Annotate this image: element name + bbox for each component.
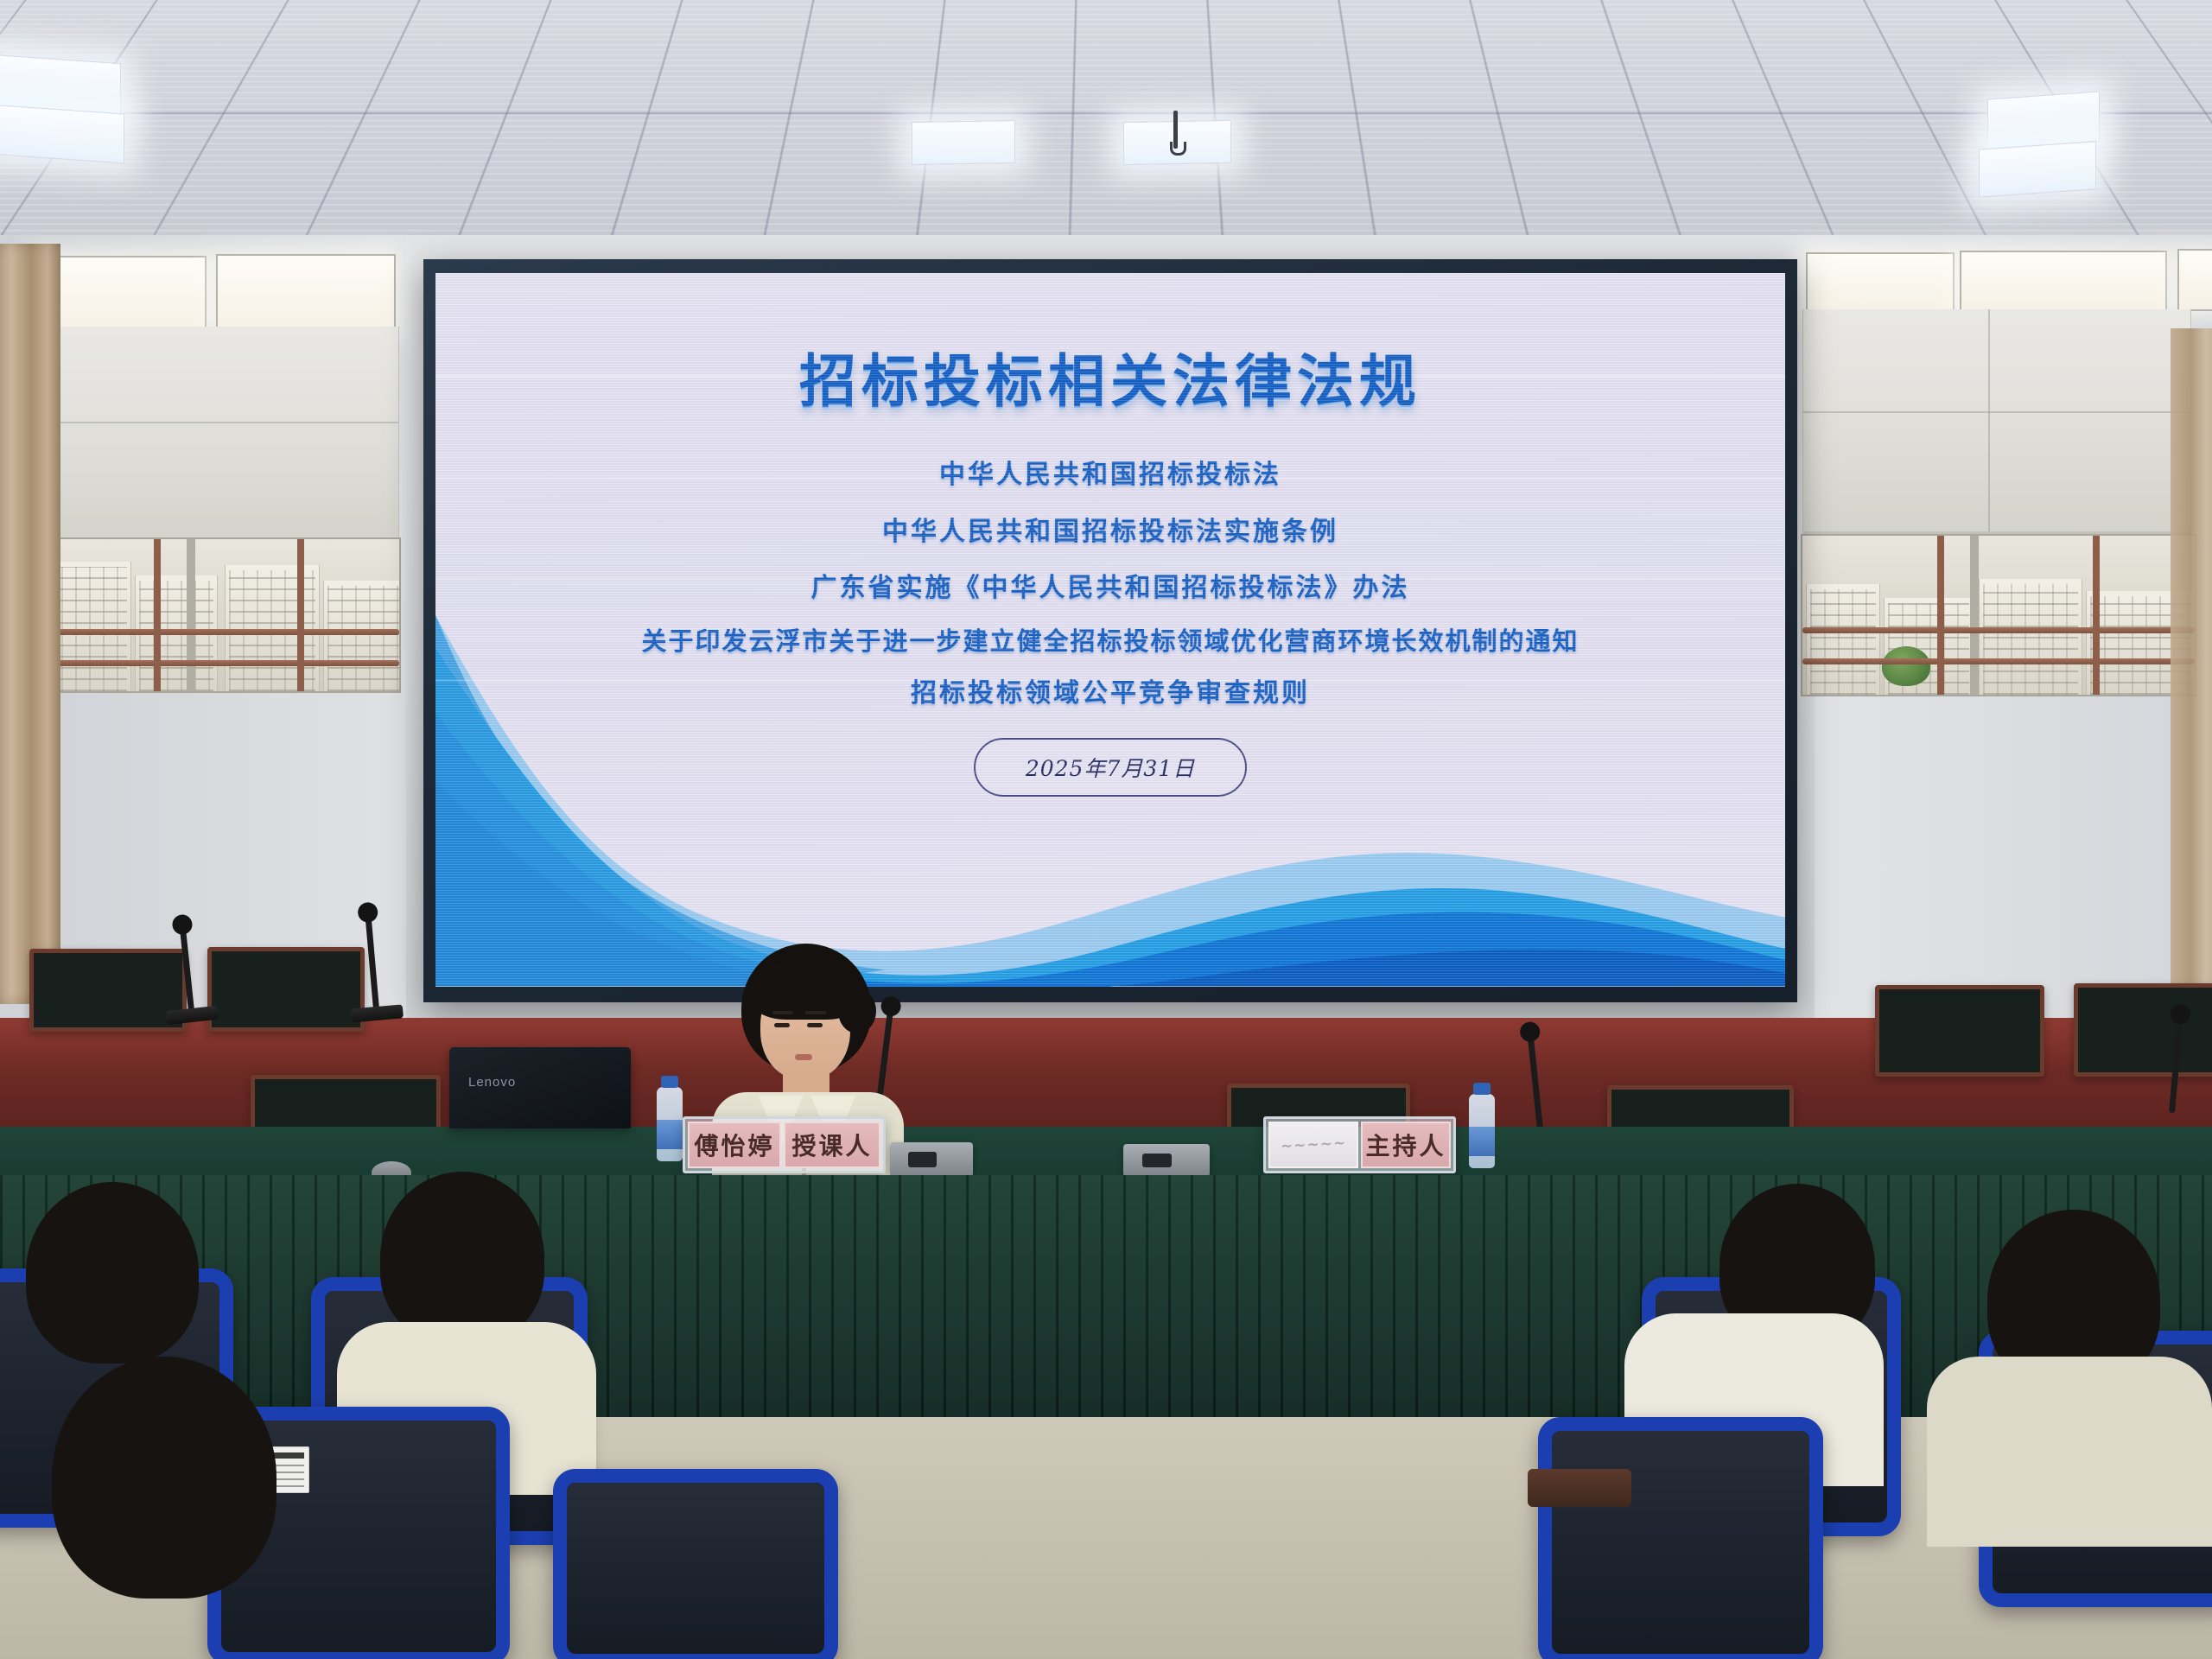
clerestory-window <box>1806 252 1955 315</box>
clerestory-window <box>2177 249 2212 311</box>
host-nameplate-holder: ~~~~~ 主持人 <box>1263 1116 1456 1173</box>
ceiling-hook <box>1173 111 1178 149</box>
slide-line-4: 关于印发云浮市关于进一步建立健全招标投标领域优化营商环境长效机制的通知 <box>435 628 1785 654</box>
laptop-brand-logo: Lenovo <box>468 1075 516 1090</box>
lecturer-name-plate: 傅怡婷 <box>688 1122 781 1168</box>
bottle-cap <box>661 1076 678 1088</box>
host-role-plate: 主持人 <box>1361 1122 1451 1168</box>
roller-blind-right[interactable] <box>1802 309 2191 536</box>
suspended-ceiling <box>0 0 2212 259</box>
bottle-label <box>657 1120 683 1149</box>
presentation-screen[interactable]: 招标投标相关法律法规 中华人民共和国招标投标法 中华人民共和国招标投标法实施条例… <box>435 273 1785 987</box>
conference-control-unit[interactable] <box>1123 1144 1210 1177</box>
bottle-cap <box>1473 1083 1491 1095</box>
clerestory-window <box>216 254 396 334</box>
slide-line-2: 中华人民共和国招标投标法实施条例 <box>435 518 1785 546</box>
roller-blind-left[interactable] <box>28 327 399 543</box>
led-screen-bezel: 招标投标相关法律法规 中华人民共和国招标投标法 中华人民共和国招标投标法实施条例… <box>423 259 1797 1002</box>
lecturer-nameplate-holder: 傅怡婷 授课人 <box>683 1116 886 1173</box>
stage-chair[interactable] <box>29 949 187 1032</box>
water-bottle[interactable] <box>657 1087 683 1161</box>
slide-title: 招标投标相关法律法规 <box>435 335 1785 418</box>
seat-tablet-arm[interactable] <box>1528 1469 1631 1507</box>
attendee-head <box>380 1172 544 1344</box>
auditorium-seat[interactable] <box>553 1469 838 1659</box>
bottle-label <box>1469 1127 1495 1156</box>
mouth <box>795 1054 812 1060</box>
conference-room-scene: 招标投标相关法律法规 中华人民共和国招标投标法 中华人民共和国招标投标法实施条例… <box>0 0 2212 1659</box>
tree <box>1882 646 1930 686</box>
host-name-text: ~~~~~ <box>1280 1135 1346 1155</box>
clerestory-window <box>1960 251 2167 313</box>
host-name-plate: ~~~~~ <box>1268 1122 1358 1168</box>
window-left <box>22 537 401 693</box>
conference-control-unit[interactable] <box>890 1142 973 1177</box>
attendee-head <box>52 1357 276 1599</box>
ceiling-light-panel <box>1987 91 2100 149</box>
slide-body: 中华人民共和国招标投标法 中华人民共和国招标投标法实施条例 广东省实施《中华人民… <box>435 461 1785 797</box>
curtain-left <box>0 244 60 1004</box>
slide-line-1: 中华人民共和国招标投标法 <box>435 461 1785 489</box>
curtain-right <box>2171 328 2212 1002</box>
auditorium-seat[interactable] <box>1538 1417 1823 1659</box>
ceiling-light-panel <box>912 120 1015 165</box>
slide-line-5: 招标投标领域公平竞争审查规则 <box>435 680 1785 708</box>
slide-line-3: 广东省实施《中华人民共和国招标投标法》办法 <box>435 575 1785 602</box>
ceiling-light-panel <box>0 104 124 163</box>
slide-date-badge: 2025年7月31日 <box>974 738 1247 797</box>
stage-chair[interactable] <box>2074 983 2212 1077</box>
stage-chair[interactable] <box>207 947 365 1032</box>
water-bottle[interactable] <box>1469 1094 1495 1168</box>
ceiling-tile-grid <box>0 0 2212 259</box>
window-right <box>1801 534 2196 696</box>
attendee-head <box>26 1182 199 1363</box>
laptop[interactable]: Lenovo <box>449 1047 631 1128</box>
attendee-shoulders <box>1927 1357 2212 1547</box>
lecturer-role-plate: 授课人 <box>784 1122 880 1168</box>
hair-bun <box>838 988 876 1033</box>
ceiling-light-panel <box>1979 141 2096 198</box>
stage-chair[interactable] <box>1875 985 2044 1077</box>
